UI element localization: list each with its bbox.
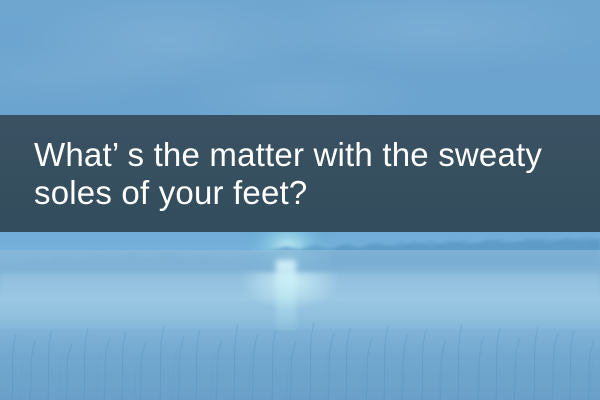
image-canvas: What’ s the matter with the sweaty soles… bbox=[0, 0, 600, 400]
caption-bar: What’ s the matter with the sweaty soles… bbox=[0, 115, 600, 232]
caption-text: What’ s the matter with the sweaty soles… bbox=[34, 136, 566, 212]
reed-grass bbox=[0, 300, 600, 400]
